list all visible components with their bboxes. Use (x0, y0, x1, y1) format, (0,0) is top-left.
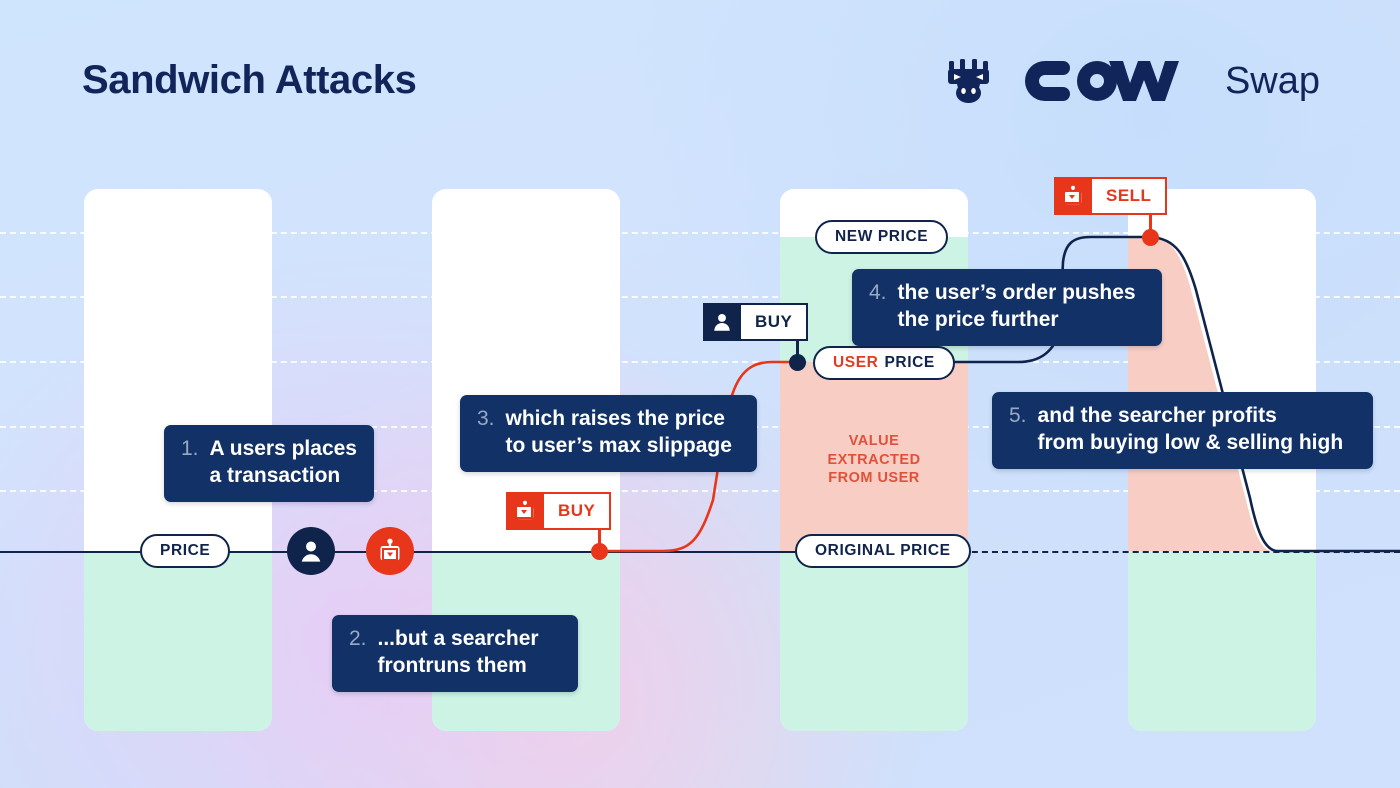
logo-swap-text: Swap (1225, 60, 1320, 103)
callout-5-number: 5. (1009, 403, 1027, 430)
callout-2-text: ...but a searcher frontruns them (378, 626, 539, 680)
searcher-buy-badge[interactable]: BUY (506, 492, 611, 530)
searcher-sell-label: SELL (1092, 177, 1167, 215)
person-icon (703, 303, 741, 341)
callout-1: 1. A users places a transaction (164, 425, 374, 502)
infographic-canvas: Sandwich Attacks (0, 0, 1400, 788)
user-buy-stem (796, 340, 799, 362)
callout-5-text: and the searcher profits from buying low… (1038, 403, 1344, 457)
new-price-text: NEW PRICE (835, 228, 928, 246)
new-price-pill: NEW PRICE (815, 220, 948, 254)
callout-3-text: which raises the price to user’s max sli… (506, 406, 732, 460)
searcher-sell-badge[interactable]: SELL (1054, 177, 1167, 215)
callout-2-number: 2. (349, 626, 367, 653)
original-price-pill: ORIGINAL PRICE (795, 534, 971, 568)
price-label-pill: PRICE (140, 534, 230, 568)
callout-4: 4. the user’s order pushes the price fur… (852, 269, 1162, 346)
callout-1-text: A users places a transaction (210, 436, 357, 490)
callout-5: 5. and the searcher profits from buying … (992, 392, 1373, 469)
callout-4-number: 4. (869, 280, 887, 307)
user-price-text-price: PRICE (884, 354, 934, 372)
callout-3-number: 3. (477, 406, 495, 433)
cowswap-logo: Swap (943, 55, 1320, 107)
robot-icon (506, 492, 544, 530)
searcher-avatar (366, 527, 414, 575)
price-label-text: PRICE (160, 542, 210, 560)
callout-2: 2. ...but a searcher frontruns them (332, 615, 578, 692)
searcher-buy-stem (598, 529, 601, 551)
user-price-pill: USER PRICE (813, 346, 955, 380)
cow-wordmark-icon (1005, 57, 1215, 105)
callout-4-text: the user’s order pushes the price furthe… (898, 280, 1136, 334)
searcher-buy-label: BUY (544, 492, 611, 530)
user-avatar (287, 527, 335, 575)
user-buy-label: BUY (741, 303, 808, 341)
cow-head-icon (943, 55, 995, 107)
robot-icon (1054, 177, 1092, 215)
page-title: Sandwich Attacks (82, 58, 416, 103)
callout-1-number: 1. (181, 436, 199, 463)
user-price-text-user: USER (833, 354, 878, 372)
original-price-text: ORIGINAL PRICE (815, 542, 951, 560)
value-extracted-text: VALUE EXTRACTED FROM USER (812, 432, 936, 488)
searcher-sell-stem (1149, 214, 1152, 237)
callout-3: 3. which raises the price to user’s max … (460, 395, 757, 472)
user-buy-badge[interactable]: BUY (703, 303, 808, 341)
